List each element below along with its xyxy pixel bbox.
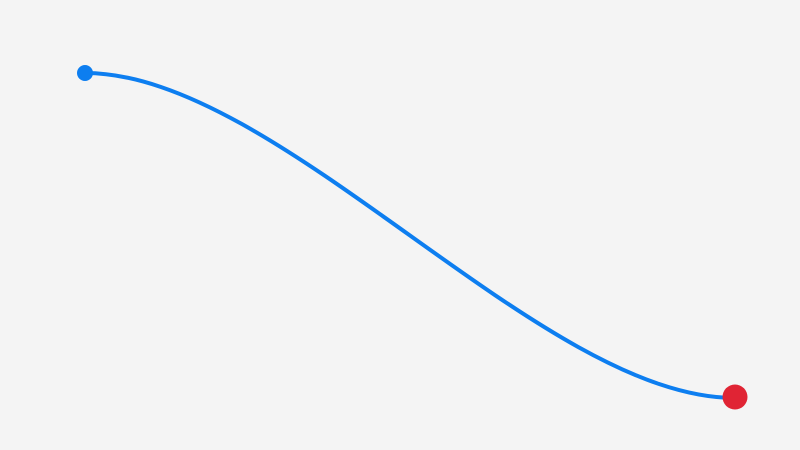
curve-canvas[interactable] (0, 0, 800, 450)
start-point-handle[interactable] (77, 65, 93, 81)
canvas-background (0, 0, 800, 450)
app-root: MOVE START-END POINTS WITH MOUSE (0, 0, 800, 450)
end-point-handle[interactable] (723, 385, 748, 410)
